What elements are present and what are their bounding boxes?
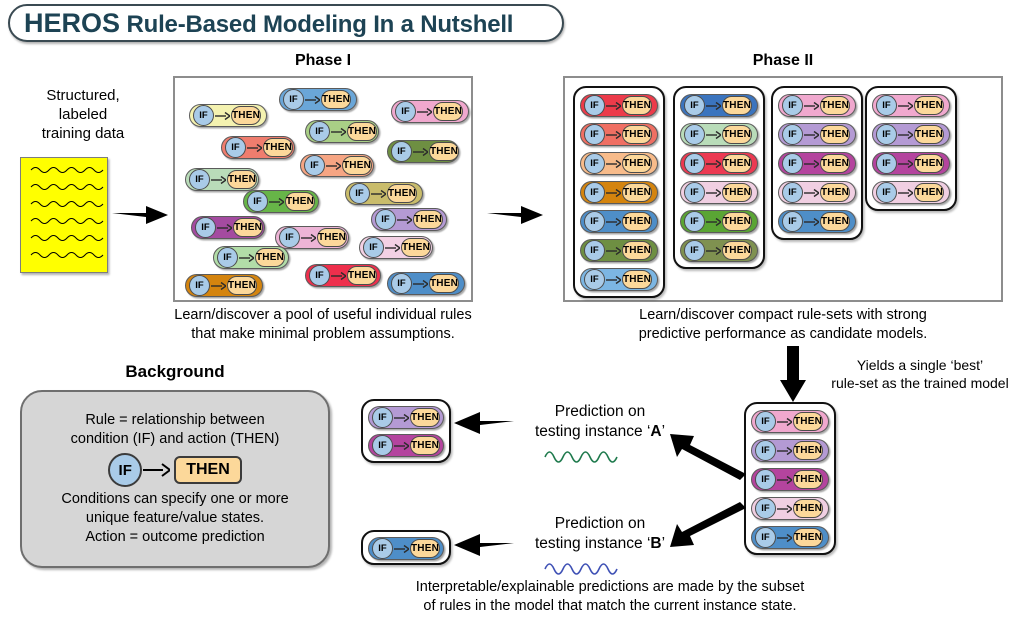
page-title: HEROS Rule-Based Modeling In a Nutshell — [24, 8, 513, 39]
if-circle-icon: IF — [372, 407, 393, 428]
rule-pill[interactable]: IFTHEN — [680, 210, 758, 233]
if-circle-icon: IF — [782, 153, 803, 174]
if-circle-icon: IF — [391, 141, 412, 162]
then-box: THEN — [622, 270, 652, 289]
arrow-phase2-to-model — [778, 346, 808, 404]
then-box: THEN — [793, 412, 823, 431]
arrow-icon — [394, 413, 409, 423]
then-box: THEN — [231, 106, 261, 125]
rule-pill[interactable]: IFTHEN — [279, 88, 357, 111]
if-circle-icon: IF — [395, 101, 416, 122]
if-circle-icon: IF — [372, 538, 393, 559]
if-circle-icon: IF — [363, 237, 384, 258]
arrow-icon — [606, 217, 621, 227]
arrow-icon — [326, 161, 341, 171]
rule-pill[interactable]: IFTHEN — [371, 208, 447, 231]
prediction-a-ruleset[interactable]: IFTHENIFTHEN — [361, 399, 451, 463]
rule-pill[interactable]: IFTHEN — [275, 226, 349, 249]
rule-pill[interactable]: IFTHEN — [185, 168, 259, 191]
then-box: THEN — [174, 456, 242, 484]
if-circle-icon: IF — [876, 95, 897, 116]
if-circle-icon: IF — [876, 182, 897, 203]
background-line2: condition (IF) and action (THEN) — [71, 430, 280, 449]
rule-pill[interactable]: IFTHEN — [580, 94, 658, 117]
yields-line1: Yields a single ‘best’ — [812, 356, 1028, 374]
if-circle-icon: IF — [684, 153, 705, 174]
if-circle-icon: IF — [584, 182, 605, 203]
rule-pill[interactable]: IFTHEN — [751, 410, 829, 433]
background-box: Rule = relationship between condition (I… — [20, 390, 330, 568]
rule-pill[interactable]: IFTHEN — [305, 264, 381, 287]
then-box: THEN — [410, 436, 440, 455]
then-box: THEN — [914, 154, 944, 173]
if-circle-icon: IF — [584, 211, 605, 232]
if-circle-icon: IF — [225, 137, 246, 158]
prediction-b-instance: B — [650, 535, 661, 552]
if-circle-icon: IF — [684, 211, 705, 232]
if-circle-icon: IF — [755, 498, 776, 519]
phase1-title: Phase I — [173, 52, 473, 70]
then-box: THEN — [820, 154, 850, 173]
arrow-icon — [706, 246, 721, 256]
if-circle-icon: IF — [684, 95, 705, 116]
arrow-icon — [305, 95, 320, 105]
then-box: THEN — [342, 156, 372, 175]
arrow-icon — [898, 101, 913, 111]
arrow-icon — [211, 281, 226, 291]
then-box: THEN — [429, 142, 459, 161]
then-box: THEN — [722, 212, 752, 231]
arrow-to-prediction-b-ruleset — [452, 530, 514, 560]
if-circle-icon: IF — [782, 95, 803, 116]
phase2-caption-line1: Learn/discover compact rule-sets with st… — [563, 306, 1003, 325]
if-circle-icon: IF — [349, 183, 370, 204]
arrow-icon — [269, 197, 284, 207]
then-box: THEN — [820, 96, 850, 115]
rule-pill[interactable]: IFTHEN — [778, 181, 856, 204]
then-box: THEN — [622, 125, 652, 144]
input-data-label: Structured, labeled training data — [8, 86, 158, 143]
then-box: THEN — [410, 539, 440, 558]
then-box: THEN — [622, 241, 652, 260]
rule-pill[interactable]: IFTHEN — [778, 152, 856, 175]
arrow-icon — [898, 159, 913, 169]
prediction-b-line2-post: ’ — [662, 535, 665, 552]
arrow-icon — [804, 159, 819, 169]
then-box: THEN — [233, 218, 263, 237]
then-box: THEN — [793, 470, 823, 489]
then-box: THEN — [914, 96, 944, 115]
if-circle-icon: IF — [755, 469, 776, 490]
arrow-icon — [706, 101, 721, 111]
if-circle-icon: IF — [189, 275, 210, 296]
prediction-a-line1: Prediction on — [500, 402, 700, 422]
arrow-icon — [804, 101, 819, 111]
arrow-icon — [606, 246, 621, 256]
rule-pill[interactable]: IFTHEN — [580, 239, 658, 262]
if-circle-icon: IF — [279, 227, 300, 248]
background-line5: Action = outcome prediction — [85, 528, 264, 547]
prediction-a-line2-pre: testing instance ‘ — [535, 423, 650, 440]
if-circle-icon: IF — [684, 182, 705, 203]
arrow-icon — [804, 217, 819, 227]
arrow-icon — [777, 533, 792, 543]
rule-pill[interactable]: IFTHEN — [751, 439, 829, 462]
arrow-icon — [239, 253, 254, 263]
arrow-icon — [331, 271, 346, 281]
phase2-caption-line2: predictive performance as candidate mode… — [563, 325, 1003, 344]
rule-pill[interactable]: IFTHEN — [580, 268, 658, 291]
arrow-icon — [215, 111, 230, 121]
instance-a-wave-icon — [543, 445, 621, 463]
prediction-b-line2: testing instance ‘B’ — [500, 534, 700, 554]
arrow-icon — [394, 544, 409, 554]
arrow-icon — [417, 107, 432, 117]
arrow-icon — [606, 130, 621, 140]
rule-pill[interactable]: IFTHEN — [387, 140, 459, 163]
rule-pill[interactable]: IFTHEN — [778, 210, 856, 233]
footer-caption: Interpretable/explainable predictions ar… — [330, 578, 890, 616]
background-line3: Conditions can specify one or more — [61, 490, 288, 509]
then-box: THEN — [387, 184, 417, 203]
arrow-icon — [706, 188, 721, 198]
background-line1: Rule = relationship between — [85, 411, 264, 430]
then-box: THEN — [622, 96, 652, 115]
prediction-b-line2-pre: testing instance ‘ — [535, 535, 650, 552]
rule-pill[interactable]: IFTHEN — [680, 239, 758, 262]
if-circle-icon: IF — [372, 435, 393, 456]
rule-pill[interactable]: IFTHEN — [580, 181, 658, 204]
if-circle-icon: IF — [375, 209, 396, 230]
arrow-icon — [301, 233, 316, 243]
rule-pill[interactable]: IFTHEN — [387, 272, 465, 295]
arrow-icon — [371, 189, 386, 199]
input-label-line3: training data — [8, 124, 158, 143]
prediction-b-label: Prediction on testing instance ‘B’ — [500, 514, 700, 554]
then-box: THEN — [793, 441, 823, 460]
rule-pill[interactable]: IFTHEN — [872, 94, 950, 117]
rule-pill[interactable]: IFTHEN — [189, 104, 267, 127]
rule-pill[interactable]: IFTHEN — [751, 497, 829, 520]
arrow-icon — [413, 147, 428, 157]
page-title-banner: HEROS Rule-Based Modeling In a Nutshell — [8, 4, 564, 42]
if-circle-icon: IF — [584, 153, 605, 174]
arrow-icon — [606, 101, 621, 111]
if-circle-icon: IF — [189, 169, 210, 190]
rule-pill[interactable]: IFTHEN — [680, 181, 758, 204]
phase2-ruleset[interactable]: IFTHENIFTHENIFTHENIFTHENIFTHENIFTHEN — [673, 86, 765, 269]
phase2-ruleset[interactable]: IFTHENIFTHENIFTHENIFTHEN — [865, 86, 957, 211]
then-box: THEN — [622, 183, 652, 202]
rule-pill[interactable]: IFTHEN — [185, 274, 263, 297]
phase1-panel: IFTHENIFTHENIFTHENIFTHENIFTHENIFTHENIFTH… — [173, 76, 473, 302]
arrow-icon — [706, 217, 721, 227]
then-box: THEN — [914, 125, 944, 144]
if-circle-icon: IF — [755, 527, 776, 548]
if-circle-icon: IF — [584, 269, 605, 290]
rule-pill[interactable]: IFTHEN — [580, 123, 658, 146]
if-circle-icon: IF — [876, 153, 897, 174]
trained-model-ruleset[interactable]: IFTHENIFTHENIFTHENIFTHENIFTHEN — [744, 402, 836, 555]
arrow-icon — [606, 188, 621, 198]
footer-line2: of rules in the model that match the cur… — [330, 597, 890, 616]
arrow-icon — [606, 159, 621, 169]
yields-label: Yields a single ‘best’ rule-set as the t… — [812, 356, 1028, 392]
if-circle-icon: IF — [584, 95, 605, 116]
rule-pill[interactable]: IFTHEN — [580, 152, 658, 175]
rule-pill[interactable]: IFTHEN — [872, 152, 950, 175]
arrow-icon — [777, 417, 792, 427]
arrow-icon — [898, 130, 913, 140]
if-circle-icon: IF — [584, 240, 605, 261]
arrow-icon — [217, 223, 232, 233]
arrow-icon — [706, 159, 721, 169]
rule-pill[interactable]: IFTHEN — [359, 236, 433, 259]
rule-pill[interactable]: IFTHEN — [751, 468, 829, 491]
prediction-b-ruleset[interactable]: IFTHEN — [361, 530, 451, 565]
prediction-a-line2-post: ’ — [662, 423, 665, 440]
phase2-panel: IFTHENIFTHENIFTHENIFTHENIFTHENIFTHENIFTH… — [563, 76, 1003, 302]
then-box: THEN — [820, 183, 850, 202]
arrow-icon — [247, 143, 262, 153]
arrow-icon — [804, 188, 819, 198]
rule-pill[interactable]: IFTHEN — [191, 216, 265, 239]
if-circle-icon: IF — [684, 240, 705, 261]
rule-pill[interactable]: IFTHEN — [243, 190, 319, 213]
rule-pill[interactable]: IFTHEN — [368, 434, 444, 457]
phase2-ruleset[interactable]: IFTHENIFTHENIFTHENIFTHENIFTHENIFTHENIFTH… — [573, 86, 665, 298]
if-circle-icon: IF — [782, 182, 803, 203]
phase1-caption: Learn/discover a pool of useful individu… — [148, 306, 498, 344]
rule-pill[interactable]: IFTHEN — [680, 123, 758, 146]
phase1-caption-line1: Learn/discover a pool of useful individu… — [148, 306, 498, 325]
arrow-icon — [898, 188, 913, 198]
rule-pill[interactable]: IFTHEN — [872, 123, 950, 146]
rule-pill[interactable]: IFTHEN — [221, 136, 295, 159]
arrow-data-to-phase1 — [112, 200, 170, 230]
then-box: THEN — [321, 90, 351, 109]
then-box: THEN — [622, 154, 652, 173]
rule-pill[interactable]: IFTHEN — [580, 210, 658, 233]
then-box: THEN — [914, 183, 944, 202]
then-box: THEN — [285, 192, 315, 211]
then-box: THEN — [622, 212, 652, 231]
arrow-icon — [211, 175, 226, 185]
phase2-title: Phase II — [563, 52, 1003, 70]
arrow-icon — [777, 475, 792, 485]
phase2-caption: Learn/discover compact rule-sets with st… — [563, 306, 1003, 344]
rule-pill[interactable]: IFTHEN — [778, 94, 856, 117]
if-circle-icon: IF — [782, 124, 803, 145]
if-circle-icon: IF — [195, 217, 216, 238]
arrow-to-prediction-a-ruleset — [452, 408, 514, 438]
then-box: THEN — [227, 276, 257, 295]
then-box: THEN — [317, 228, 347, 247]
rule-pill[interactable]: IFTHEN — [368, 406, 444, 429]
then-box: THEN — [722, 96, 752, 115]
if-circle-icon: IF — [876, 124, 897, 145]
prediction-b-line1: Prediction on — [500, 514, 700, 534]
if-circle-icon: IF — [755, 411, 776, 432]
if-circle-icon: IF — [247, 191, 268, 212]
phase1-caption-line2: that make minimal problem assumptions. — [148, 325, 498, 344]
then-box: THEN — [429, 274, 459, 293]
arrow-icon — [331, 127, 346, 137]
rule-pill[interactable]: IFTHEN — [213, 246, 289, 269]
if-circle-icon: IF — [283, 89, 304, 110]
then-box: THEN — [820, 125, 850, 144]
then-box: THEN — [722, 125, 752, 144]
arrow-icon — [804, 130, 819, 140]
arrow-icon — [777, 446, 792, 456]
training-data-waves — [21, 158, 105, 270]
yields-line2: rule-set as the trained model — [812, 374, 1028, 392]
if-circle-icon: IF — [309, 121, 330, 142]
if-circle-icon: IF — [755, 440, 776, 461]
input-label-line1: Structured, — [8, 86, 158, 105]
training-data-box — [20, 157, 108, 273]
if-circle-icon: IF — [584, 124, 605, 145]
rule-pill[interactable]: IFTHEN — [751, 526, 829, 549]
arrow-icon — [142, 462, 170, 478]
rule-pill[interactable]: IFTHEN — [680, 94, 758, 117]
rule-pill[interactable]: IFTHEN — [872, 181, 950, 204]
instance-b-wave-icon — [543, 557, 621, 575]
page-title-rest: Rule-Based Modeling In a Nutshell — [127, 11, 514, 38]
background-title: Background — [20, 362, 330, 382]
rule-pill[interactable]: IFTHEN — [778, 123, 856, 146]
rule-pill[interactable]: IFTHEN — [300, 154, 374, 177]
prediction-a-label: Prediction on testing instance ‘A’ — [500, 402, 700, 442]
if-circle-icon: IF — [217, 247, 238, 268]
input-label-line2: labeled — [8, 105, 158, 124]
arrow-icon — [385, 243, 400, 253]
then-box: THEN — [401, 238, 431, 257]
then-box: THEN — [793, 499, 823, 518]
prediction-a-instance: A — [650, 423, 661, 440]
if-circle-icon: IF — [108, 453, 142, 487]
if-circle-icon: IF — [309, 265, 330, 286]
if-circle-icon: IF — [304, 155, 325, 176]
then-box: THEN — [255, 248, 285, 267]
rule-pill[interactable]: IFTHEN — [680, 152, 758, 175]
rule-pill[interactable]: IFTHEN — [305, 120, 379, 143]
arrow-icon — [394, 441, 409, 451]
phase2-ruleset[interactable]: IFTHENIFTHENIFTHENIFTHENIFTHEN — [771, 86, 863, 240]
background-rule-example: IF THEN — [108, 453, 242, 487]
then-box: THEN — [793, 528, 823, 547]
then-box: THEN — [820, 212, 850, 231]
rule-pill[interactable]: IFTHEN — [345, 182, 423, 205]
then-box: THEN — [433, 102, 463, 121]
then-box: THEN — [347, 266, 377, 285]
prediction-a-line2: testing instance ‘A’ — [500, 422, 700, 442]
arrow-phase1-to-phase2 — [487, 200, 545, 230]
footer-line1: Interpretable/explainable predictions ar… — [330, 578, 890, 597]
if-circle-icon: IF — [391, 273, 412, 294]
if-circle-icon: IF — [684, 124, 705, 145]
then-box: THEN — [722, 241, 752, 260]
then-box: THEN — [722, 183, 752, 202]
page-title-acronym: HEROS — [24, 8, 120, 38]
if-circle-icon: IF — [193, 105, 214, 126]
then-box: THEN — [722, 154, 752, 173]
rule-pill[interactable]: IFTHEN — [368, 537, 444, 560]
arrow-icon — [397, 215, 412, 225]
then-box: THEN — [413, 210, 443, 229]
if-circle-icon: IF — [782, 211, 803, 232]
background-line4: unique feature/value states. — [86, 509, 264, 528]
arrow-icon — [413, 279, 428, 289]
arrow-icon — [777, 504, 792, 514]
then-box: THEN — [347, 122, 377, 141]
arrow-icon — [706, 130, 721, 140]
then-box: THEN — [263, 138, 293, 157]
rule-pill[interactable]: IFTHEN — [391, 100, 469, 123]
then-box: THEN — [227, 170, 257, 189]
then-box: THEN — [410, 408, 440, 427]
arrow-icon — [606, 275, 621, 285]
